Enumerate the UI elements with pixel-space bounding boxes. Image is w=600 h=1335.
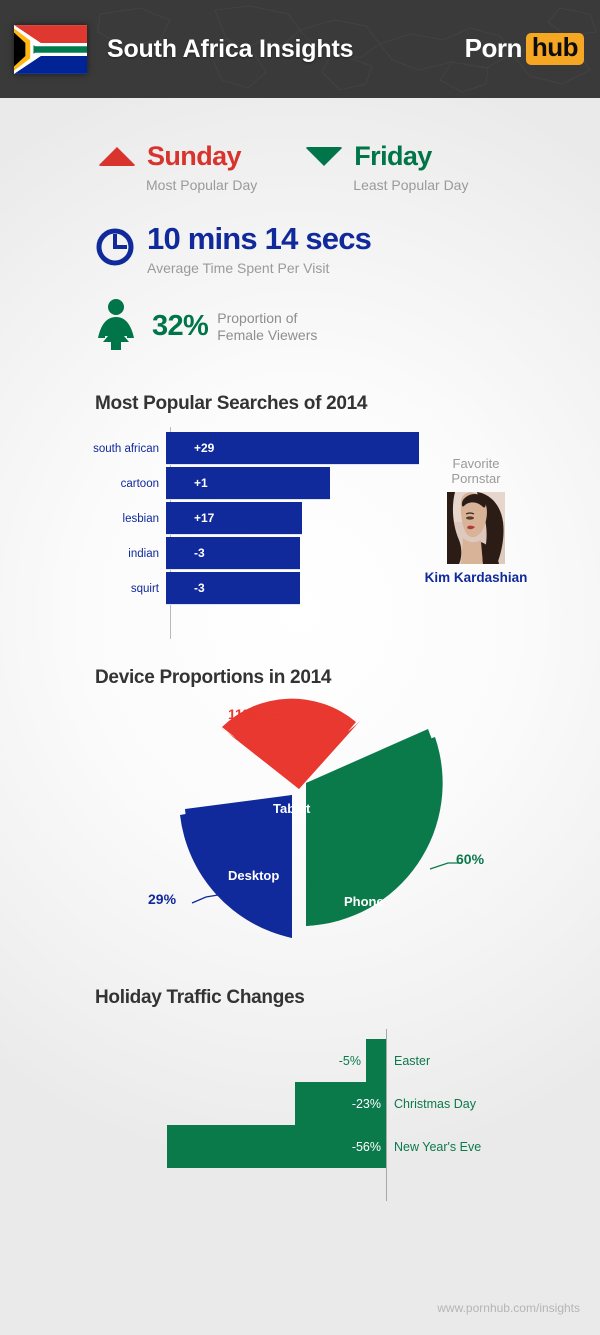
search-bar: +17	[166, 502, 302, 535]
day-stats-row: Sunday Most Popular Day Friday Least Pop…	[0, 140, 600, 193]
favorite-pornstar-caption-line1: Favorite	[412, 457, 540, 472]
device-pie-chart: Tablet Desktop Phone 11% 29% 60%	[0, 691, 600, 959]
pie-percent-desktop: 29%	[148, 891, 176, 907]
pie-percent-phone: 60%	[456, 851, 484, 867]
search-category-label: indian	[0, 548, 165, 560]
search-value-label: -3	[166, 581, 205, 595]
holiday-category-label: Christmas Day	[386, 1097, 476, 1111]
female-viewers-stat: 32% Proportion of Female Viewers	[0, 298, 600, 355]
pie-percent-tablet: 11%	[228, 706, 255, 722]
holiday-value-label: -56%	[352, 1140, 386, 1154]
search-category-label: lesbian	[0, 513, 165, 525]
search-value-label: +29	[166, 441, 214, 455]
table-row: lesbian +17	[0, 501, 302, 536]
female-caption-line2: Female Viewers	[217, 327, 317, 343]
page-title: South Africa Insights	[107, 35, 465, 64]
female-figure-icon	[95, 298, 137, 355]
table-row: squirt -3	[0, 571, 300, 606]
least-popular-day-value: Friday	[354, 141, 431, 172]
pie-leader-desktop	[192, 895, 218, 903]
search-category-label: south african	[0, 443, 165, 455]
favorite-pornstar-photo	[447, 492, 505, 564]
searches-bar-chart: south african +29 cartoon +1 lesbian +17…	[0, 427, 600, 639]
most-popular-day-value: Sunday	[147, 141, 241, 172]
table-row: south african +29	[0, 431, 419, 466]
table-row: -56% New Year's Eve	[167, 1125, 481, 1168]
holiday-category-label: New Year's Eve	[386, 1140, 481, 1154]
pie-label-tablet: Tablet	[273, 801, 310, 816]
favorite-pornstar-block: Favorite Pornstar Kim Kard	[412, 457, 540, 585]
table-row: -5% Easter	[366, 1039, 430, 1082]
most-popular-day-caption: Most Popular Day	[146, 177, 257, 193]
triangle-up-icon	[98, 147, 136, 166]
search-bar: +1	[166, 467, 330, 500]
search-value-label: +17	[166, 511, 214, 525]
search-bar: -3	[166, 572, 300, 605]
holiday-bar-chart: -5% Easter -23% Christmas Day -56% New Y…	[0, 1021, 600, 1216]
holiday-section-title: Holiday Traffic Changes	[0, 987, 600, 1009]
female-viewers-caption: Proportion of Female Viewers	[217, 310, 317, 342]
holiday-value-label: -23%	[352, 1097, 386, 1111]
table-row: indian -3	[0, 536, 300, 571]
logo-text-hub: hub	[526, 33, 584, 64]
south-africa-flag-icon	[14, 25, 87, 74]
logo-text-porn: Porn	[465, 33, 522, 64]
average-time-value: 10 mins 14 secs	[147, 223, 371, 254]
search-bar: +29	[166, 432, 419, 465]
devices-section-title: Device Proportions in 2014	[0, 667, 600, 689]
search-category-label: squirt	[0, 583, 165, 595]
infographic-page: South Africa Insights Porn hub Sunday Mo…	[0, 0, 600, 1335]
least-popular-day-stat: Friday Least Popular Day	[305, 140, 468, 193]
clock-icon	[95, 227, 135, 272]
pie-label-desktop: Desktop	[228, 868, 279, 883]
pie-label-phone: Phone	[344, 894, 384, 909]
search-bar: -3	[166, 537, 300, 570]
pornhub-logo[interactable]: Porn hub	[465, 33, 584, 64]
triangle-down-icon	[305, 147, 343, 166]
average-time-stat: 10 mins 14 secs Average Time Spent Per V…	[0, 223, 600, 276]
holiday-value-label: -5%	[339, 1054, 366, 1068]
female-caption-line1: Proportion of	[217, 310, 317, 326]
search-value-label: +1	[166, 476, 208, 490]
table-row: -23% Christmas Day	[295, 1082, 476, 1125]
footer-url[interactable]: www.pornhub.com/insights	[437, 1301, 580, 1315]
holiday-bar: -5%	[366, 1039, 386, 1082]
searches-section-title: Most Popular Searches of 2014	[0, 393, 600, 415]
favorite-pornstar-caption-line2: Pornstar	[412, 472, 540, 487]
favorite-pornstar-caption: Favorite Pornstar	[412, 457, 540, 487]
holiday-category-label: Easter	[386, 1054, 430, 1068]
female-viewers-value: 32%	[152, 310, 208, 343]
most-popular-day-stat: Sunday Most Popular Day	[98, 140, 257, 193]
table-row: cartoon +1	[0, 466, 330, 501]
page-header: South Africa Insights Porn hub	[0, 0, 600, 98]
average-time-caption: Average Time Spent Per Visit	[147, 260, 371, 276]
holiday-bar: -56%	[167, 1125, 386, 1168]
holiday-bar: -23%	[295, 1082, 386, 1125]
search-category-label: cartoon	[0, 478, 165, 490]
least-popular-day-caption: Least Popular Day	[353, 177, 468, 193]
favorite-pornstar-name: Kim Kardashian	[412, 570, 540, 585]
search-value-label: -3	[166, 546, 205, 560]
